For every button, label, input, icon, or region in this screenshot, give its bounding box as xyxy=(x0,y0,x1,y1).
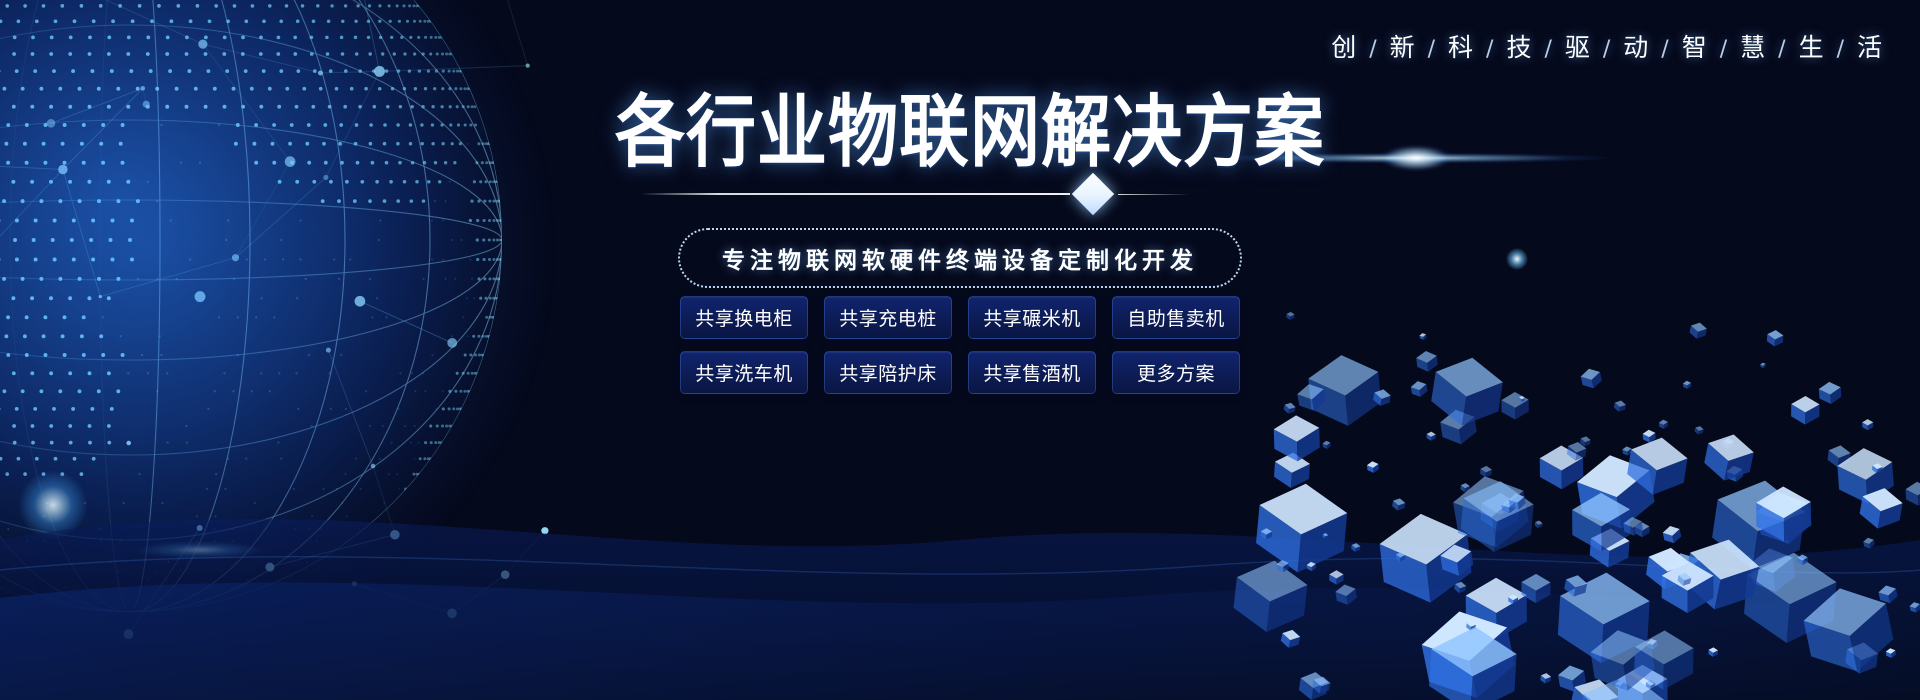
tagline-separator: / xyxy=(1592,37,1623,62)
tagline-separator: / xyxy=(1533,37,1564,62)
solution-buttons: 共享换电柜共享充电桩共享碾米机自助售卖机共享洗车机共享陪护床共享售酒机更多方案 xyxy=(680,296,1240,394)
tagline-word: 活 xyxy=(1857,33,1884,62)
banner-content: 创 / 新 / 科 / 技 / 驱 / 动 / 智 / 慧 / 生 / 活 各行… xyxy=(0,0,1920,700)
subtitle-pill: 专注物联网软硬件终端设备定制化开发 xyxy=(678,228,1242,288)
tagline-separator: / xyxy=(1826,37,1857,62)
page-title: 各行业物联网解决方案 xyxy=(0,97,1920,167)
headline-rule-right xyxy=(1118,194,1190,195)
tagline-separator: / xyxy=(1767,37,1798,62)
iot-solutions-banner: 创 / 新 / 科 / 技 / 驱 / 动 / 智 / 慧 / 生 / 活 各行… xyxy=(0,0,1920,700)
tagline-separator: / xyxy=(1475,37,1506,62)
tagline: 创 / 新 / 科 / 技 / 驱 / 动 / 智 / 慧 / 生 / 活 xyxy=(1331,28,1884,64)
tagline-word: 生 xyxy=(1799,33,1826,62)
tagline-separator: / xyxy=(1650,37,1681,62)
solution-button[interactable]: 共享洗车机 xyxy=(680,351,808,394)
button-row: 共享洗车机共享陪护床共享售酒机更多方案 xyxy=(680,351,1240,394)
tagline-word: 慧 xyxy=(1740,33,1767,62)
tagline-word: 动 xyxy=(1623,33,1650,62)
button-row: 共享换电柜共享充电桩共享碾米机自助售卖机 xyxy=(680,296,1240,339)
tagline-word: 驱 xyxy=(1565,33,1592,62)
tagline-separator: / xyxy=(1358,37,1389,62)
headline-rule xyxy=(640,193,1070,195)
solution-button[interactable]: 共享充电桩 xyxy=(824,296,952,339)
solution-button[interactable]: 自助售卖机 xyxy=(1112,296,1240,339)
tagline-word: 创 xyxy=(1331,33,1358,62)
headline-text: 各行业物联网解决方案 xyxy=(595,93,1325,171)
tagline-word: 技 xyxy=(1506,33,1533,62)
subtitle-text: 专注物联网软硬件终端设备定制化开发 xyxy=(722,248,1198,274)
solution-button[interactable]: 共享碾米机 xyxy=(968,296,1096,339)
tagline-separator: / xyxy=(1709,37,1740,62)
tagline-separator: / xyxy=(1417,37,1448,62)
solution-button[interactable]: 共享陪护床 xyxy=(824,351,952,394)
solution-button[interactable]: 共享售酒机 xyxy=(968,351,1096,394)
tagline-word: 智 xyxy=(1682,33,1709,62)
solution-button[interactable]: 共享换电柜 xyxy=(680,296,808,339)
tagline-word: 科 xyxy=(1448,33,1475,62)
diamond-separator-icon xyxy=(1072,173,1114,215)
solution-button[interactable]: 更多方案 xyxy=(1112,351,1240,394)
tagline-word: 新 xyxy=(1390,33,1417,62)
